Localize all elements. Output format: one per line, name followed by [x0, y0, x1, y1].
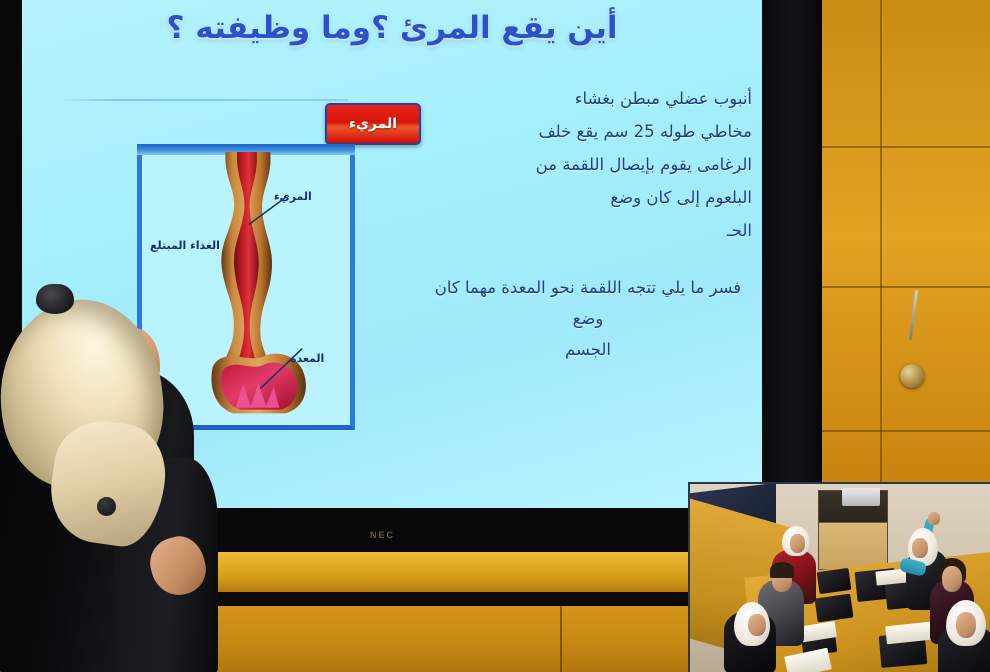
- inset-student-face: [790, 534, 805, 553]
- inset-laptop: [815, 594, 854, 623]
- inset-student-face: [942, 566, 962, 592]
- inset-laptop: [817, 568, 852, 594]
- wall-seam: [822, 286, 990, 288]
- presenter-microphone: [97, 497, 116, 516]
- esophagus-badge: المريء: [325, 103, 421, 145]
- diagram-label-esophagus: المريء: [274, 190, 312, 203]
- definition-line: مخاطي طوله 25 سم يقع خلف: [422, 115, 752, 148]
- question-line: فسر ما يلي تتجه اللقمة نحو المعدة مهما ك…: [428, 272, 748, 334]
- title-divider-rule: [58, 99, 348, 101]
- display-brand-logo: NEC: [370, 530, 395, 540]
- definition-line: البلعوم إلى كان وضع: [422, 181, 752, 214]
- esophagus-badge-label: المريء: [349, 116, 397, 132]
- presenter-teacher: [0, 282, 240, 672]
- wall-seam: [880, 0, 882, 552]
- inset-student-hair: [770, 562, 794, 578]
- diagram-label-food: الغذاء المبتلع: [150, 239, 220, 252]
- bezel-sheen: [760, 0, 822, 556]
- wall-seam: [822, 430, 990, 432]
- inset-printer: [842, 488, 880, 506]
- door-knob: [900, 364, 924, 388]
- slide-definition-text: أنبوب عضلي مبطن بغشاء مخاطي طوله 25 سم ي…: [422, 82, 752, 247]
- inset-student-face: [748, 614, 766, 636]
- slide-title: أين يقع المرئ ؟وما وظيفته ؟: [22, 10, 762, 46]
- classroom-inset-video[interactable]: [688, 482, 990, 672]
- lecture-capture-frame: NEC أين يقع المرئ ؟وما وظيفته ؟ المريء أ…: [0, 0, 990, 672]
- inset-student-face: [956, 612, 976, 638]
- inset-student-raised-hand: [928, 512, 940, 525]
- cabinet-seam: [560, 606, 562, 672]
- presenter-head-clip: [36, 284, 74, 314]
- definition-line: أنبوب عضلي مبطن بغشاء: [422, 82, 752, 115]
- definition-line: الحـ: [422, 214, 752, 247]
- wall-seam: [822, 146, 990, 148]
- definition-line: الرغامى يقوم بإيصال اللقمة من: [422, 148, 752, 181]
- inset-student-face: [912, 538, 928, 558]
- diagram-label-stomach: المعدة: [290, 352, 324, 365]
- slide-question-text: فسر ما يلي تتجه اللقمة نحو المعدة مهما ك…: [428, 272, 748, 365]
- question-line: الجسم: [428, 334, 748, 365]
